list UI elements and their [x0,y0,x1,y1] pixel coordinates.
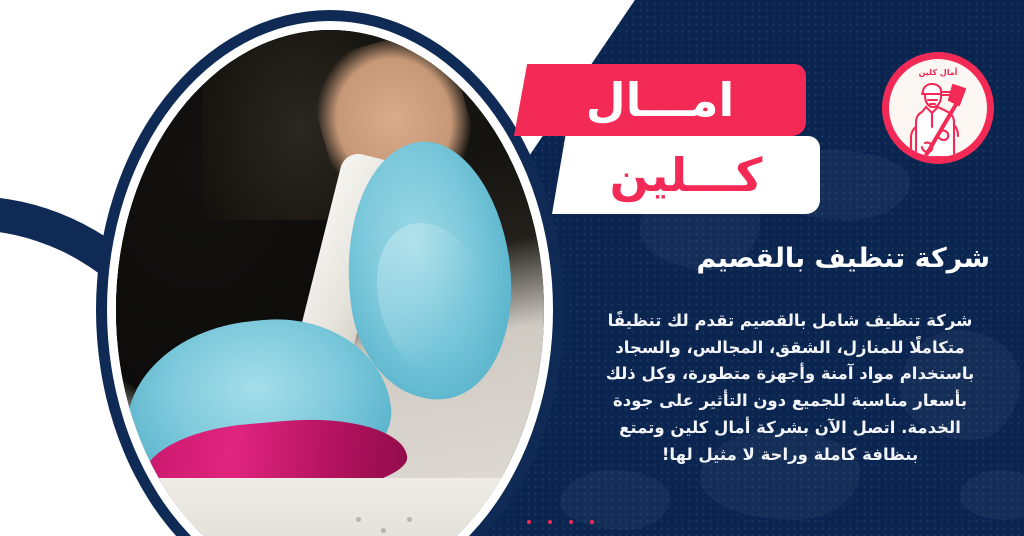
logo-badge-inner: أمال كلين [889,59,987,157]
photo-frame-ring [96,10,564,536]
decorative-dots [527,520,594,524]
red-dot [548,520,552,524]
page-title: شركة تنظيف بالقصيم [570,243,990,274]
red-dot [527,520,531,524]
description-text: شركة تنظيف شامل بالقصيم تقدم لك تنظيفًا … [590,308,990,468]
logo-badge[interactable]: أمال كلين [882,52,994,164]
red-dot [590,520,594,524]
cleaner-worker-icon [895,75,981,157]
promo-banner: امـــال كـــلين أمال كلين [0,0,1024,536]
red-dot [569,520,573,524]
brand-name-line2: كـــلين [552,136,820,214]
cleaning-photo [116,30,544,536]
brand-name-line1: امـــال [514,64,806,136]
